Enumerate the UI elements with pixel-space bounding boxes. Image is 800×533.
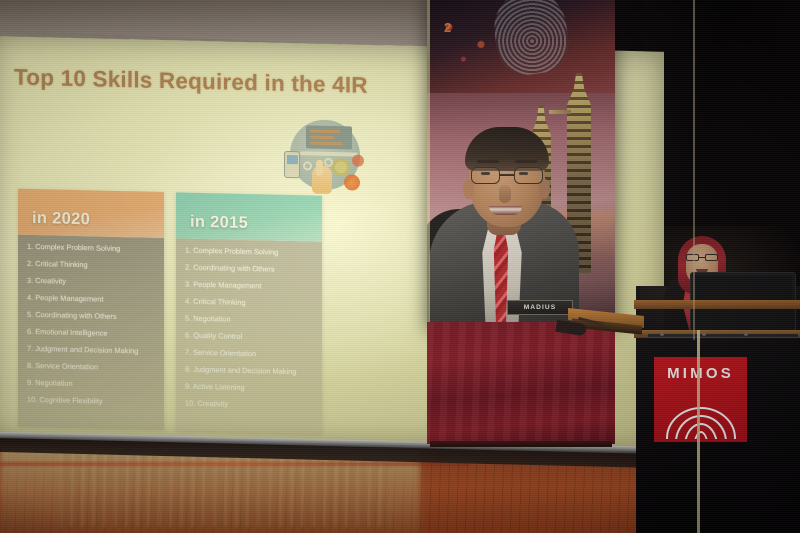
list-item: 8. Judgment and Decision Making: [185, 366, 318, 377]
podium-wood-ledge-upper: [634, 300, 800, 309]
floor-red-light-streak: [0, 462, 470, 466]
list-item: 4. People Management: [27, 294, 160, 305]
podium-cable-upper: [693, 0, 695, 340]
digital-technology-circle-icon: [276, 115, 368, 197]
mimos-logo-text: MIMOS: [654, 365, 747, 382]
list-item: 1. Complex Problem Solving: [185, 247, 318, 258]
mimos-logo-arcs: [660, 389, 741, 439]
portrait-glasses: [471, 167, 543, 185]
drape-base-shadow: [430, 441, 612, 447]
petronas-skybridge: [549, 110, 571, 114]
list-item: 9. Active Listening: [185, 383, 318, 394]
list-item: 2. Coordinating with Others: [185, 264, 318, 275]
skills-column-2015: in 2015 1. Complex Problem Solving 2. Co…: [176, 192, 322, 433]
column-header-2020: in 2020: [18, 189, 164, 238]
list-item: 7. Judgment and Decision Making: [27, 345, 160, 356]
mimos-logo: MIMOS: [654, 357, 747, 442]
list-item: 10. Cognitive Flexibility: [27, 396, 160, 407]
list-item: 10. Creativity: [185, 400, 318, 411]
skills-column-2020: in 2020 1. Complex Problem Solving 2. Cr…: [18, 189, 164, 430]
podium-cable: [697, 330, 700, 533]
list-item: 6. Quality Control: [185, 332, 318, 343]
list-item: 6. Emotional Intelligence: [27, 328, 160, 339]
list-item: 7. Service Orientation: [185, 349, 318, 360]
skills-list-2020: 1. Complex Problem Solving 2. Critical T…: [18, 235, 164, 430]
portrait-banner: 2 MADIUS: [427, 0, 615, 331]
list-item: 2. Critical Thinking: [27, 260, 160, 271]
skills-list-2015: 1. Complex Problem Solving 2. Coordinati…: [176, 238, 322, 433]
podium-front-rail: [648, 334, 798, 337]
list-item: 3. Creativity: [27, 277, 160, 288]
portrait-smile: [489, 206, 522, 215]
banner-nameplate-label: MADIUS: [524, 304, 557, 311]
column-heading-label: in 2020: [32, 209, 90, 229]
speaker-glasses: [686, 254, 718, 262]
list-item: 4. Critical Thinking: [185, 298, 318, 309]
list-item: 5. Negotiation: [185, 315, 318, 326]
column-header-2015: in 2015: [176, 192, 322, 241]
presentation-photo-scene: Top 10 Skills Required in the 4IR: [0, 0, 800, 533]
list-item: 9. Negotiation: [27, 379, 160, 390]
list-item: 1. Complex Problem Solving: [27, 243, 160, 254]
list-item: 3. People Management: [185, 281, 318, 292]
slide-title: Top 10 Skills Required in the 4IR: [14, 65, 368, 99]
list-item: 8. Service Orientation: [27, 362, 160, 373]
banner-number-mark: 2: [444, 20, 451, 35]
banner-nameplate: MADIUS: [507, 300, 573, 315]
skills-columns: in 2020 1. Complex Problem Solving 2. Cr…: [18, 189, 330, 436]
list-item: 5. Coordinating with Others: [27, 311, 160, 322]
red-stage-drape: [427, 322, 615, 444]
column-heading-label: in 2015: [190, 213, 248, 233]
